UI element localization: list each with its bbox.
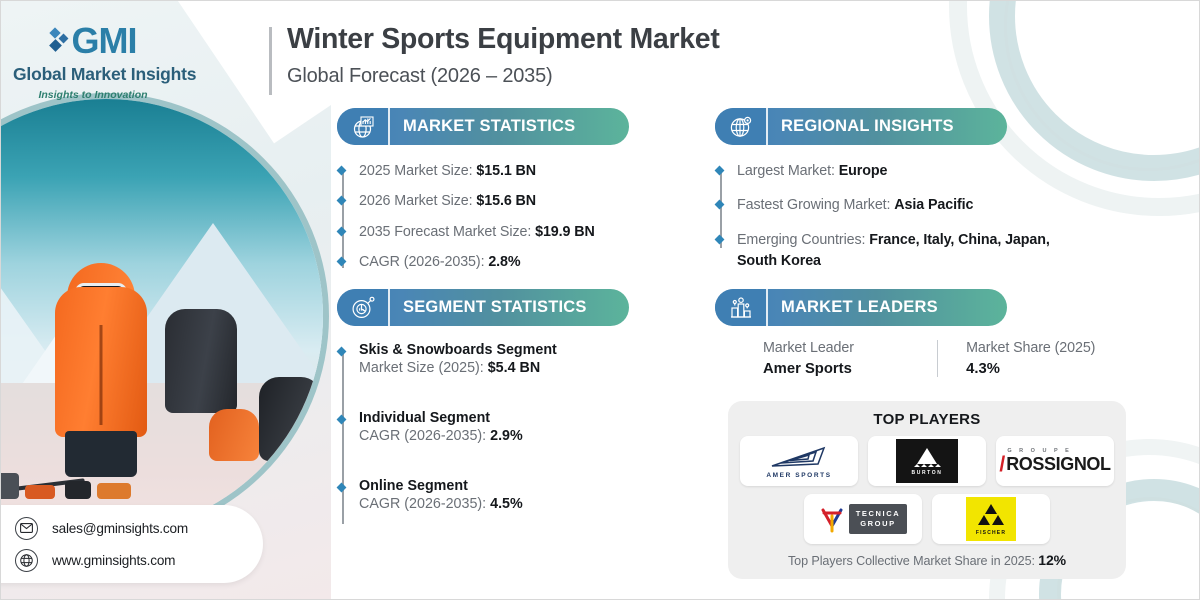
section-market-leaders: MARKET LEADERS Market Leader Amer Sports… (715, 289, 1115, 377)
contact-website: www.gminsights.com (52, 553, 175, 568)
page-subtitle: Global Forecast (2026 – 2035) (287, 65, 720, 88)
burton-logo: BURTON (896, 439, 958, 483)
orange-backpack (209, 409, 259, 461)
rossignol-slash-icon: / (999, 454, 1005, 475)
top-players-share: Top Players Collective Market Share in 2… (740, 552, 1114, 568)
stat-value: $15.6 BN (476, 193, 536, 209)
segment-title: Online Segment (359, 478, 523, 494)
bullet-diamond-icon (715, 234, 725, 244)
contact-panel: sales@gminsights.com www.gminsights.com (0, 505, 263, 583)
market-leader-label: Market Leader (763, 340, 937, 356)
market-statistics-label: MARKET STATISTICS (390, 117, 575, 136)
market-leaders-body: Market Leader Amer Sports Market Share (… (715, 340, 1115, 377)
stat-value: $15.1 BN (476, 163, 536, 179)
podium-icon (715, 289, 768, 326)
bullet-diamond-icon (337, 257, 347, 267)
regional-insights-list: Largest Market: Europe Fastest Growing M… (715, 161, 1075, 273)
list-item: CAGR (2026-2035): 2.8% (359, 252, 637, 273)
stat-label: 2026 Market Size: (359, 193, 476, 209)
segment-statistics-list: Skis & Snowboards Segment Market Size (2… (337, 342, 637, 512)
stat-label: 2035 Forecast Market Size: (359, 224, 535, 240)
market-share-column: Market Share (2025) 4.3% (937, 340, 1115, 377)
segment-metric-label: Market Size (2025): (359, 360, 488, 376)
list-item: Online Segment CAGR (2026-2035): 4.5% (359, 478, 637, 512)
bullet-diamond-icon (337, 483, 347, 493)
top-players-card: TOP PLAYERS AMER SPORTS (728, 401, 1126, 579)
segment-metric-label: CAGR (2026-2035): (359, 428, 490, 444)
market-leader-column: Market Leader Amer Sports (763, 340, 937, 377)
bullet-diamond-icon (337, 196, 347, 206)
rossignol-logo: G R O U P E / ROSSIGNOL (999, 448, 1110, 475)
section-regional-insights: REGIONAL INSIGHTS Largest Market: Europe… (715, 108, 1075, 286)
globe-pin-icon (715, 108, 768, 145)
amer-sports-wordmark: AMER SPORTS (766, 472, 831, 479)
fischer-wordmark: FISCHER (976, 530, 1006, 536)
region-label: Largest Market: (737, 163, 839, 179)
segment-title: Skis & Snowboards Segment (359, 342, 557, 358)
list-item: Largest Market: Europe (737, 161, 1075, 182)
list-item: Individual Segment CAGR (2026-2035): 2.9… (359, 410, 637, 444)
contact-website-row[interactable]: www.gminsights.com (15, 549, 263, 572)
list-item: 2025 Market Size: $15.1 BN (359, 161, 637, 182)
logo-mark: GMI (13, 23, 173, 59)
segment-statistics-label: SEGMENT STATISTICS (390, 298, 587, 317)
black-jacket (165, 309, 237, 413)
contact-email: sales@gminsights.com (52, 521, 188, 536)
logo-company-name: Global Market Insights (13, 64, 173, 85)
bullet-diamond-icon (337, 347, 347, 357)
page-title: Winter Sports Equipment Market (287, 23, 720, 56)
list-item: Emerging Countries: France, Italy, China… (737, 230, 1075, 273)
gmi-logo[interactable]: GMI Global Market Insights Insights to I… (13, 23, 173, 101)
logo-tagline: Insights to Innovation (13, 89, 173, 101)
bullet-diamond-icon (715, 200, 725, 210)
list-item: Skis & Snowboards Segment Market Size (2… (359, 342, 637, 376)
market-share-value: 4.3% (966, 361, 1115, 377)
pie-chart-search-icon (337, 289, 390, 326)
tecnica-line-1: TECNICA (856, 509, 901, 518)
bullet-diamond-icon (337, 415, 347, 425)
rossignol-wordmark: ROSSIGNOL (1006, 455, 1110, 473)
segment-metric-value: 2.9% (490, 428, 523, 444)
player-logo-amer-sports[interactable]: AMER SPORTS (740, 436, 858, 486)
list-item: 2035 Forecast Market Size: $19.9 BN (359, 222, 637, 243)
market-statistics-list: 2025 Market Size: $15.1 BN 2026 Market S… (337, 161, 637, 274)
tecnica-group-logo: TECNICA GROUP (819, 504, 908, 534)
segment-metric-value: $5.4 BN (488, 360, 540, 376)
market-leader-value: Amer Sports (763, 361, 937, 377)
list-spine (342, 170, 344, 268)
player-logo-tecnica-group[interactable]: TECNICA GROUP (804, 494, 922, 544)
contact-email-row[interactable]: sales@gminsights.com (15, 517, 263, 540)
bullet-diamond-icon (337, 166, 347, 176)
stat-value: 2.8% (488, 254, 520, 270)
region-value: Asia Pacific (894, 197, 973, 213)
envelope-icon (15, 517, 38, 540)
section-market-statistics: MARKET STATISTICS 2025 Market Size: $15.… (337, 108, 637, 283)
region-label: Fastest Growing Market: (737, 197, 894, 213)
fischer-logo: FISCHER (966, 497, 1016, 541)
market-share-label: Market Share (2025) (966, 340, 1115, 356)
tecnica-group-wordmark: TECNICA GROUP (849, 504, 908, 534)
diamonds-icon (50, 26, 70, 56)
region-label: Emerging Countries: (737, 232, 869, 248)
black-backpack (259, 377, 321, 461)
region-value: Europe (839, 163, 888, 179)
segment-title: Individual Segment (359, 410, 523, 426)
segment-statistics-header[interactable]: SEGMENT STATISTICS (337, 289, 629, 326)
bullet-diamond-icon (715, 166, 725, 176)
player-logo-fischer[interactable]: FISCHER (932, 494, 1050, 544)
segment-metric-value: 4.5% (490, 496, 523, 512)
stat-label: CAGR (2026-2035): (359, 254, 488, 270)
burton-wordmark: BURTON (912, 470, 943, 476)
list-spine (342, 351, 344, 524)
amer-sports-logo: AMER SPORTS (766, 444, 831, 479)
globe-icon (15, 549, 38, 572)
bullet-diamond-icon (337, 226, 347, 236)
top-players-row-2: TECNICA GROUP FISCHER (740, 494, 1114, 544)
assorted-gear (1, 469, 303, 499)
player-logo-rossignol[interactable]: G R O U P E / ROSSIGNOL (996, 436, 1114, 486)
infographic-canvas: GMI Global Market Insights Insights to I… (0, 0, 1200, 600)
stat-value: $19.9 BN (535, 224, 595, 240)
page-title-block: Winter Sports Equipment Market Global Fo… (269, 23, 720, 88)
globe-chart-icon (337, 108, 390, 145)
top-players-share-value: 12% (1038, 552, 1066, 568)
player-logo-burton[interactable]: BURTON (868, 436, 986, 486)
stat-label: 2025 Market Size: (359, 163, 476, 179)
regional-insights-header[interactable]: REGIONAL INSIGHTS (715, 108, 1007, 145)
top-players-share-label: Top Players Collective Market Share in 2… (788, 554, 1038, 568)
top-players-title: TOP PLAYERS (740, 411, 1114, 428)
top-players-row-1: AMER SPORTS BURTON G R O U P E / (740, 436, 1114, 486)
segment-metric-label: CAGR (2026-2035): (359, 496, 490, 512)
logo-initials: GMI (72, 23, 137, 59)
list-item: 2026 Market Size: $15.6 BN (359, 191, 637, 212)
orange-parka (55, 287, 147, 437)
market-statistics-header[interactable]: MARKET STATISTICS (337, 108, 629, 145)
section-segment-statistics: SEGMENT STATISTICS Skis & Snowboards Seg… (337, 289, 637, 512)
list-item: Fastest Growing Market: Asia Pacific (737, 195, 1075, 216)
market-leaders-label: MARKET LEADERS (768, 298, 938, 317)
tecnica-line-2: GROUP (860, 519, 896, 528)
regional-insights-label: REGIONAL INSIGHTS (768, 117, 954, 136)
market-leaders-header[interactable]: MARKET LEADERS (715, 289, 1007, 326)
